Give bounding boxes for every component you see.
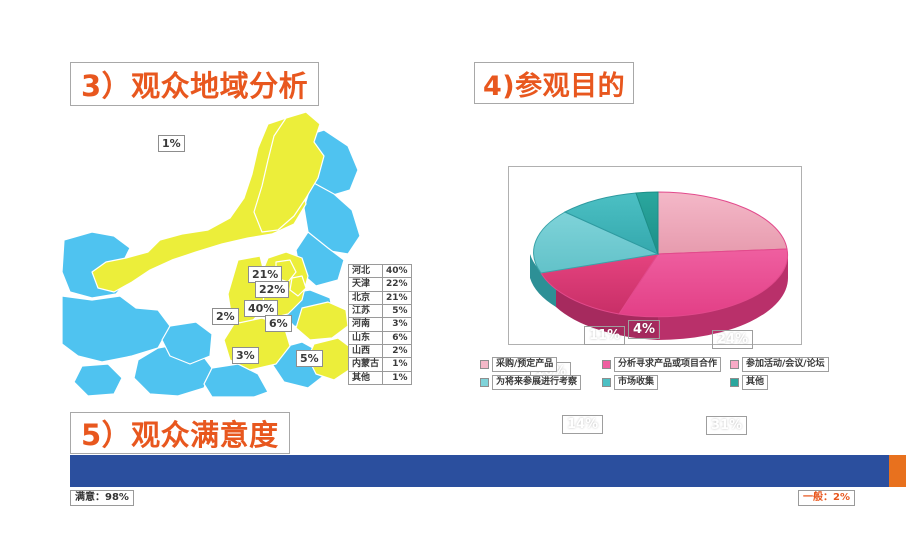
- province-name-cell: 河北: [349, 265, 383, 278]
- legend-label: 采购/预定产品: [492, 357, 557, 372]
- province-value-cell: 6%: [383, 331, 412, 344]
- satisfaction-label-average: 一般：2%: [798, 490, 855, 506]
- pie-percent-label: 11%: [584, 326, 625, 345]
- province-value-cell: 22%: [383, 278, 412, 291]
- map-percent-label: 22%: [255, 281, 289, 298]
- province-table-body: 河北40%天津22%北京21%江苏5%河南3%山东6%山西2%内蒙古1%其他1%: [349, 265, 412, 385]
- province-table-row: 山东6%: [349, 331, 412, 344]
- province-value-cell: 40%: [383, 265, 412, 278]
- province-name-cell: 北京: [349, 291, 383, 304]
- province-table-row: 山西2%: [349, 345, 412, 358]
- map-percent-label: 5%: [296, 350, 323, 367]
- legend-item[interactable]: 分析寻求产品或项目合作: [602, 357, 721, 372]
- pie-percent-label: 4%: [628, 320, 660, 339]
- province-table-row: 内蒙古1%: [349, 358, 412, 371]
- province-value-cell: 3%: [383, 318, 412, 331]
- legend-item[interactable]: 为将来参展进行考察: [480, 375, 581, 390]
- pie-percent-label: 14%: [562, 415, 603, 434]
- legend-color-swatch: [730, 378, 739, 387]
- province-percentage-table: 河北40%天津22%北京21%江苏5%河南3%山东6%山西2%内蒙古1%其他1%: [348, 264, 412, 385]
- legend-label: 为将来参展进行考察: [492, 375, 581, 390]
- province-name-cell: 山东: [349, 331, 383, 344]
- legend-label: 市场收集: [614, 375, 658, 390]
- province-table-row: 河南3%: [349, 318, 412, 331]
- section-title-purpose: 4)参观目的: [474, 62, 634, 104]
- satisfaction-stacked-bar: [70, 455, 906, 487]
- province-table-row: 河北40%: [349, 265, 412, 278]
- map-percent-label: 1%: [158, 135, 185, 152]
- satisfaction-segment-average: [889, 455, 906, 487]
- province-table-row: 江苏5%: [349, 305, 412, 318]
- pie-percent-label: 24%: [712, 330, 753, 349]
- legend-label: 其他: [742, 375, 768, 390]
- province-yunnan: [74, 364, 122, 396]
- legend-color-swatch: [480, 360, 489, 369]
- province-value-cell: 1%: [383, 358, 412, 371]
- legend-item[interactable]: 市场收集: [602, 375, 658, 390]
- pie-slices: [534, 192, 788, 317]
- legend-item[interactable]: 采购/预定产品: [480, 357, 557, 372]
- satisfaction-segment-satisfied: [70, 455, 889, 487]
- legend-color-swatch: [602, 378, 611, 387]
- province-name-cell: 天津: [349, 278, 383, 291]
- section-title-region: 3）观众地域分析: [70, 62, 319, 106]
- province-value-cell: 2%: [383, 345, 412, 358]
- province-table-row: 其他1%: [349, 371, 412, 384]
- legend-color-swatch: [602, 360, 611, 369]
- province-value-cell: 1%: [383, 371, 412, 384]
- map-percent-label: 6%: [265, 315, 292, 332]
- province-table-row: 天津22%: [349, 278, 412, 291]
- legend-color-swatch: [730, 360, 739, 369]
- map-percent-label: 3%: [232, 347, 259, 364]
- province-southcentral: [204, 364, 268, 397]
- legend-color-swatch: [480, 378, 489, 387]
- province-table-row: 北京21%: [349, 291, 412, 304]
- map-percent-label: 2%: [212, 308, 239, 325]
- province-name-cell: 江苏: [349, 305, 383, 318]
- province-name-cell: 内蒙古: [349, 358, 383, 371]
- province-name-cell: 河南: [349, 318, 383, 331]
- legend-label: 参加活动/会议/论坛: [742, 357, 829, 372]
- pie-chart-legend: 采购/预定产品分析寻求产品或项目合作参加活动/会议/论坛为将来参展进行考察市场收…: [480, 357, 840, 391]
- province-name-cell: 山西: [349, 345, 383, 358]
- province-value-cell: 5%: [383, 305, 412, 318]
- legend-item[interactable]: 其他: [730, 375, 768, 390]
- province-name-cell: 其他: [349, 371, 383, 384]
- province-value-cell: 21%: [383, 291, 412, 304]
- legend-label: 分析寻求产品或项目合作: [614, 357, 721, 372]
- pie-percent-label: 31%: [706, 416, 747, 435]
- satisfaction-label-satisfied: 满意：98%: [70, 490, 134, 506]
- legend-item[interactable]: 参加活动/会议/论坛: [730, 357, 829, 372]
- pie-slice-24: [658, 192, 787, 254]
- section-title-satisfaction: 5）观众满意度: [70, 412, 290, 454]
- province-shandong: [296, 302, 348, 340]
